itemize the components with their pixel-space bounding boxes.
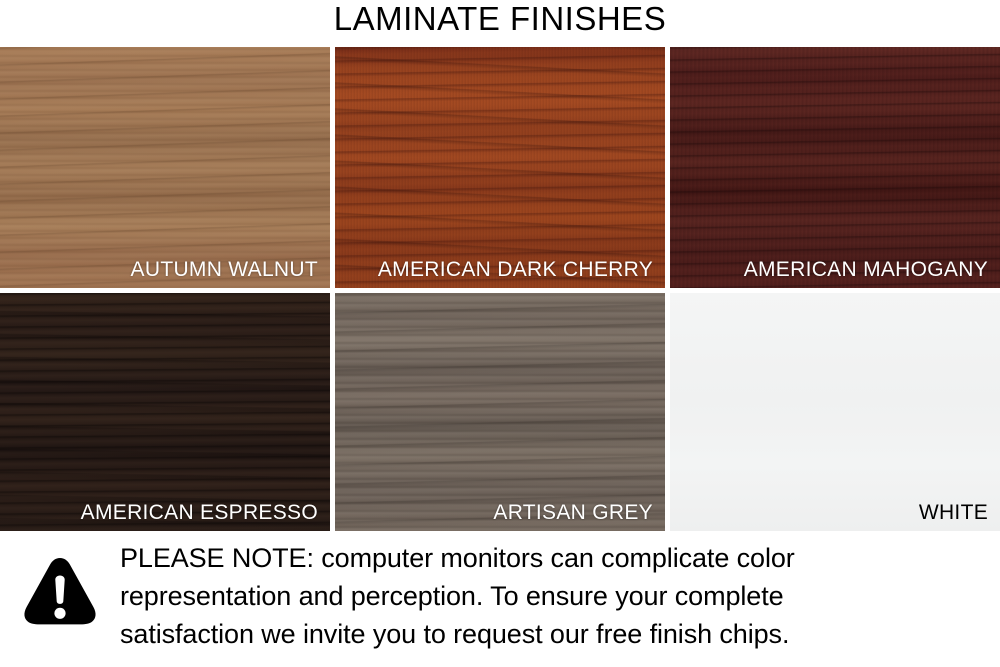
swatch-label-artisan-grey: ARTISAN GREY bbox=[493, 500, 653, 525]
swatch-texture-american-dark-cherry bbox=[335, 47, 665, 288]
swatch-label-american-dark-cherry: AMERICAN DARK CHERRY bbox=[378, 257, 653, 282]
laminate-finishes-chart: LAMINATE FINISHES AUTUMN WALNUT AMERICAN… bbox=[0, 0, 1000, 667]
swatch-grid: AUTUMN WALNUT AMERICAN DARK CHERRY AMERI… bbox=[0, 47, 1000, 531]
swatch-texture-american-mahogany bbox=[670, 47, 1000, 288]
swatch-texture-american-espresso bbox=[0, 293, 330, 531]
swatch-artisan-grey[interactable]: ARTISAN GREY bbox=[335, 293, 665, 531]
swatch-label-american-espresso: AMERICAN ESPRESSO bbox=[81, 500, 318, 525]
swatch-label-white: WHITE bbox=[919, 500, 988, 525]
swatch-texture-autumn-walnut bbox=[0, 47, 330, 288]
swatch-white[interactable]: WHITE bbox=[670, 293, 1000, 531]
swatch-label-american-mahogany: AMERICAN MAHOGANY bbox=[744, 257, 988, 282]
title-bar: LAMINATE FINISHES bbox=[0, 0, 1000, 47]
swatch-american-espresso[interactable]: AMERICAN ESPRESSO bbox=[0, 293, 330, 531]
warning-triangle-icon bbox=[22, 555, 98, 627]
disclaimer-line-2: representation and perception. To ensure… bbox=[120, 577, 986, 615]
disclaimer-bar: PLEASE NOTE: computer monitors can compl… bbox=[0, 531, 1000, 667]
swatch-american-mahogany[interactable]: AMERICAN MAHOGANY bbox=[670, 47, 1000, 288]
disclaimer-text: PLEASE NOTE: computer monitors can compl… bbox=[120, 539, 986, 653]
swatch-american-dark-cherry[interactable]: AMERICAN DARK CHERRY bbox=[335, 47, 665, 288]
swatch-autumn-walnut[interactable]: AUTUMN WALNUT bbox=[0, 47, 330, 288]
swatch-texture-white bbox=[670, 293, 1000, 531]
page-title: LAMINATE FINISHES bbox=[334, 0, 666, 38]
disclaimer-line-1: PLEASE NOTE: computer monitors can compl… bbox=[120, 539, 986, 577]
swatch-texture-artisan-grey bbox=[335, 293, 665, 531]
swatch-label-autumn-walnut: AUTUMN WALNUT bbox=[131, 257, 318, 282]
disclaimer-line-3: satisfaction we invite you to request ou… bbox=[120, 615, 986, 653]
